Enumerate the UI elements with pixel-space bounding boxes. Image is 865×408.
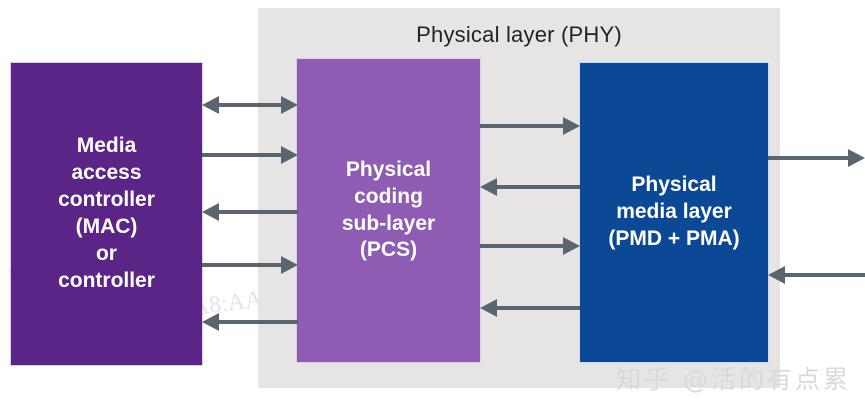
block-pcs-line: (PCS): [342, 237, 435, 264]
arrow-shaft: [785, 273, 865, 277]
arrow-head-left: [202, 203, 219, 221]
block-pmd-line: (PMD + PMA): [608, 226, 739, 253]
block-mac-line: controller: [58, 187, 155, 214]
block-pcs-line: Physical: [342, 157, 435, 184]
block-mac-line: controller: [58, 268, 155, 295]
block-physical-media-layer[interactable]: Physical media layer (PMD + PMA): [580, 63, 768, 362]
block-mac-line: or: [58, 241, 155, 268]
block-pmd-line: Physical: [608, 172, 739, 199]
block-mac-line: access: [58, 160, 155, 187]
arrow-shaft: [768, 156, 848, 160]
arrow-head-right: [848, 149, 865, 167]
block-pcs-line: sub-layer: [342, 211, 435, 238]
block-physical-coding-sub-layer[interactable]: Physical coding sub-layer (PCS): [297, 59, 480, 362]
block-pmd-line: media layer: [608, 199, 739, 226]
zhihu-watermark: 知乎 @活的有点累: [616, 360, 851, 396]
block-mac-line: Media: [58, 133, 155, 160]
arrow-head-left: [202, 313, 219, 331]
diagram-canvas: &&3 :A8:AA:8 23~ &&38:F3:A8:AA:8 Physica…: [0, 0, 865, 408]
block-pcs-line: coding: [342, 184, 435, 211]
block-mac-line: (MAC): [58, 214, 155, 241]
phy-group-title: Physical layer (PHY): [258, 22, 780, 48]
block-media-access-controller[interactable]: Media access controller (MAC) or control…: [11, 63, 202, 365]
arrow-head-left: [202, 96, 219, 114]
